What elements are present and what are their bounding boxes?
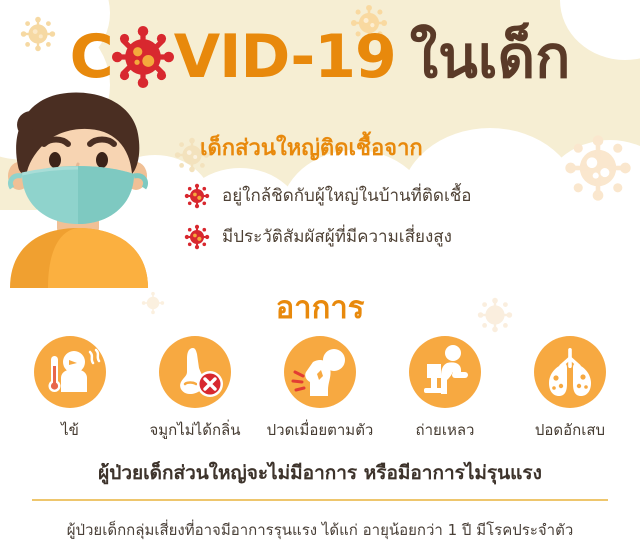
transmission-bullet-list: อยู่ใกล้ชิดกับผู้ใหญ่ในบ้านที่ติดเชื้อ	[184, 182, 624, 264]
virus-icon	[110, 24, 176, 90]
lungs-icon	[534, 336, 606, 408]
list-item: ไข้	[10, 336, 130, 442]
virus-bullet-icon	[184, 224, 210, 250]
virus-bullet-icon	[184, 183, 210, 209]
footer-main-statement: ผู้ป่วยเด็กส่วนใหญ่จะไม่มีอาการ หรือมีอา…	[0, 458, 640, 488]
page-title: C	[0, 22, 640, 92]
child-wearing-mask-illustration	[0, 88, 165, 288]
list-item: จมูกไม่ได้กลิ่น	[135, 336, 255, 442]
infographic-root: C	[0, 0, 640, 549]
list-item: มีประวัติสัมผัสผู้ที่มีความเสี่ยงสูง	[184, 223, 624, 250]
footer-note: ผู้ป่วยเด็กกลุ่มเสี่ยงที่อาจมีอาการรุนแร…	[0, 518, 640, 542]
list-item-label: ถ่ายเหลว	[385, 418, 505, 442]
list-item: ถ่ายเหลว	[385, 336, 505, 442]
symptoms-list: ไข้ จมูกไม่ได้กลิ่น	[10, 336, 630, 442]
title-text-vid: VID-19	[174, 27, 396, 87]
list-item: อยู่ใกล้ชิดกับผู้ใหญ่ในบ้านที่ติดเชื้อ	[184, 182, 624, 209]
list-item: ปอดอักเสบ	[510, 336, 630, 442]
divider	[32, 499, 608, 501]
title-text-thai: ในเด็ก	[410, 28, 571, 86]
nose-no-smell-icon	[159, 336, 231, 408]
list-item-label: มีประวัติสัมผัสผู้ที่มีความเสี่ยงสูง	[222, 223, 452, 250]
subheading: เด็กส่วนใหญ่ติดเชื้อจาก	[200, 130, 423, 165]
list-item-label: ปอดอักเสบ	[510, 418, 630, 442]
list-item: ปวดเมื่อยตามตัว	[260, 336, 380, 442]
list-item-label: จมูกไม่ได้กลิ่น	[135, 418, 255, 442]
list-item-label: อยู่ใกล้ชิดกับผู้ใหญ่ในบ้านที่ติดเชื้อ	[222, 182, 472, 209]
body-ache-icon	[284, 336, 356, 408]
list-item-label: ปวดเมื่อยตามตัว	[260, 418, 380, 442]
title-letter-c: C	[70, 27, 114, 87]
list-item-label: ไข้	[10, 418, 130, 442]
fever-thermometer-icon	[34, 336, 106, 408]
toilet-diarrhea-icon	[409, 336, 481, 408]
symptoms-section-title: อาการ	[0, 282, 640, 332]
